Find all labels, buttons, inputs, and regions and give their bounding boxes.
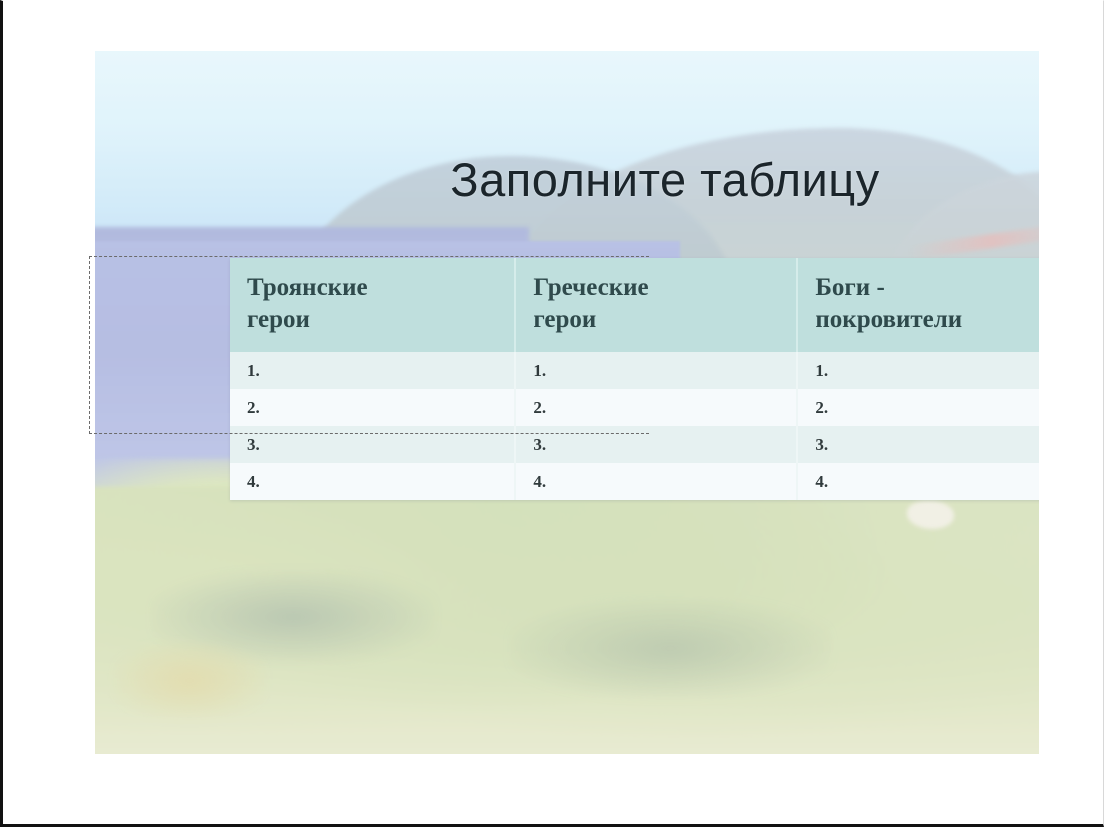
table-header-cell-greek-heroes: Греческие герои — [515, 258, 797, 352]
table-cell[interactable]: 3. — [515, 426, 797, 463]
table-cell[interactable]: 2. — [230, 389, 515, 426]
table-cell[interactable]: 1. — [230, 352, 515, 389]
header-line-2: покровители — [815, 304, 1039, 336]
page-title: Заполните таблицу — [295, 155, 1035, 204]
table-row: 4. 4. 4. — [230, 463, 1039, 500]
table-header-row: Троянские герои Греческие герои Боги - п… — [230, 258, 1039, 352]
header-line-1: Боги - — [815, 274, 884, 301]
table-cell[interactable]: 4. — [230, 463, 515, 500]
table-cell[interactable]: 1. — [797, 352, 1039, 389]
slide-canvas: Заполните таблицу Троянские герои Гречес… — [95, 51, 1039, 754]
table-body: 1. 1. 1. 2. 2. 2. 3. 3. 3. 4. 4. 4. — [230, 352, 1039, 500]
fill-in-table: Троянские герои Греческие герои Боги - п… — [230, 258, 1039, 500]
header-line-2: герои — [533, 304, 796, 336]
header-line-2: герои — [247, 304, 514, 336]
table-header-cell-patron-gods: Боги - покровители — [797, 258, 1039, 352]
table-cell[interactable]: 4. — [515, 463, 797, 500]
table-header-cell-trojan-heroes: Троянские герои — [230, 258, 515, 352]
header-line-1: Греческие — [533, 274, 648, 301]
page-frame: Заполните таблицу Троянские герои Гречес… — [0, 0, 1104, 827]
header-line-1: Троянские — [247, 274, 368, 301]
background-vegetation-shadow-2 — [510, 599, 831, 697]
table-cell[interactable]: 3. — [230, 426, 515, 463]
background-vegetation-olive — [114, 642, 265, 719]
table-header: Троянские герои Греческие герои Боги - п… — [230, 258, 1039, 352]
table-cell[interactable]: 1. — [515, 352, 797, 389]
table-cell[interactable]: 2. — [797, 389, 1039, 426]
table-cell[interactable]: 3. — [797, 426, 1039, 463]
table-row: 3. 3. 3. — [230, 426, 1039, 463]
table-row: 1. 1. 1. — [230, 352, 1039, 389]
table-cell[interactable]: 4. — [797, 463, 1039, 500]
table-cell[interactable]: 2. — [515, 389, 797, 426]
table-row: 2. 2. 2. — [230, 389, 1039, 426]
